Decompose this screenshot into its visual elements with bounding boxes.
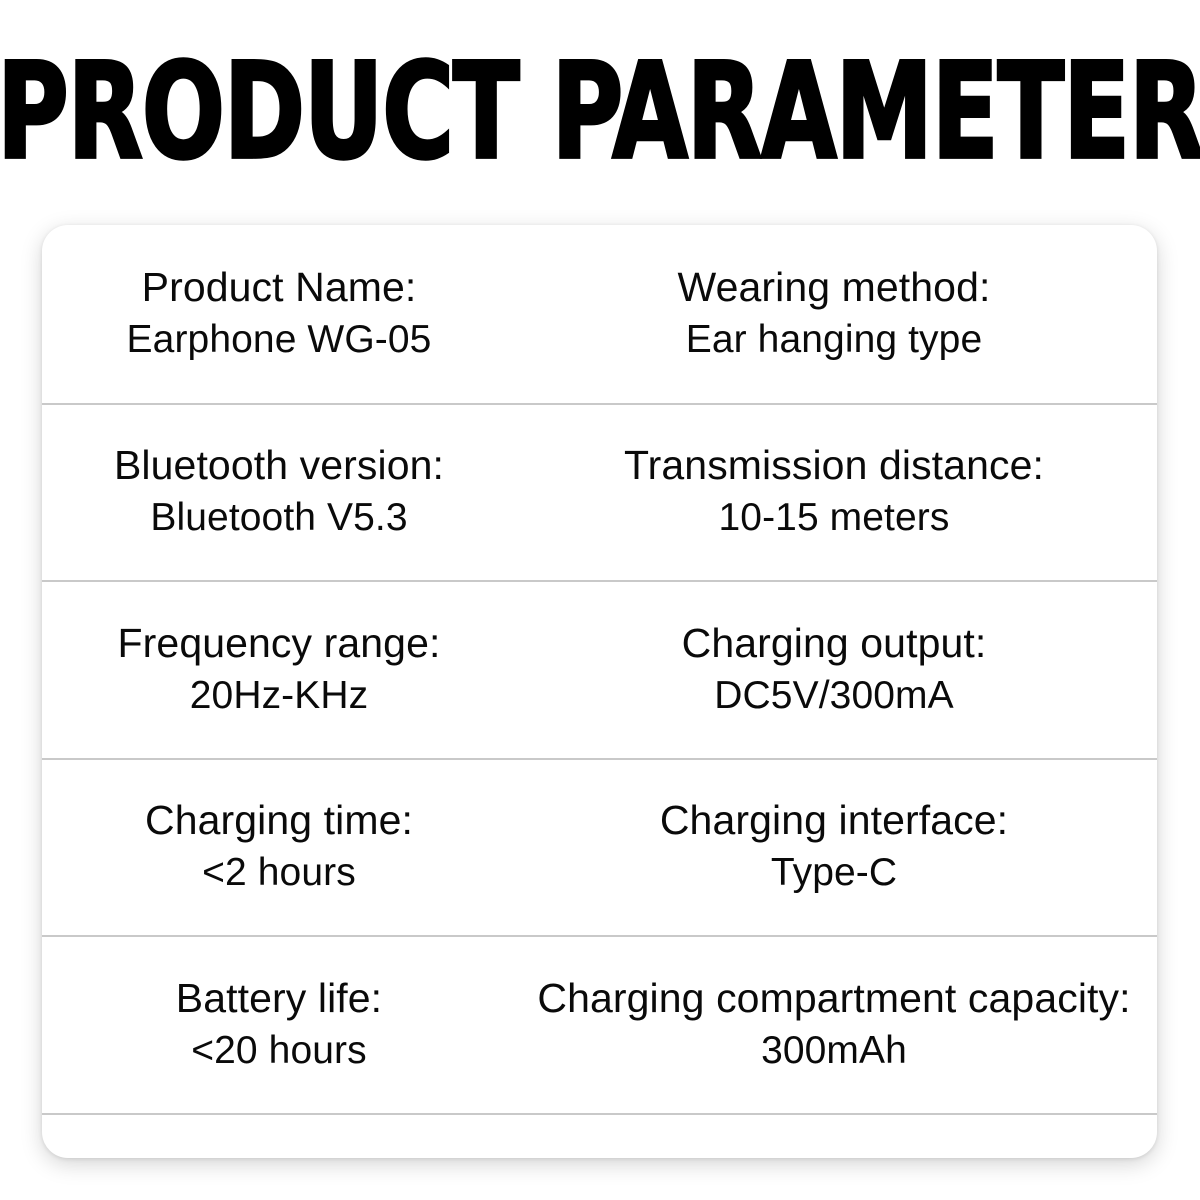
spec-value: Ear hanging type (686, 317, 982, 363)
spec-cell-right: Charging interface: Type-C (514, 798, 1154, 896)
spec-value: 10-15 meters (719, 495, 950, 541)
spec-value: 20Hz-KHz (190, 673, 369, 719)
product-parameter-page: PRODUCT PARAMETER Product Name: Earphone… (0, 0, 1200, 1200)
spec-label: Transmission distance: (624, 443, 1044, 489)
table-row: Battery life: <20 hours Charging compart… (42, 935, 1157, 1113)
spec-label: Frequency range: (118, 621, 441, 667)
spec-label: Charging output: (682, 621, 987, 667)
spec-cell-right: Wearing method: Ear hanging type (514, 265, 1154, 363)
spec-value: <2 hours (202, 850, 356, 896)
spec-cell-left: Bluetooth version: Bluetooth V5.3 (44, 443, 514, 541)
table-row: Charging time: <2 hours Charging interfa… (42, 758, 1157, 936)
page-title: PRODUCT PARAMETER (0, 46, 1200, 178)
spec-cell-left: Frequency range: 20Hz-KHz (44, 621, 514, 719)
spec-value: Earphone WG-05 (127, 317, 432, 363)
spec-label: Product Name: (142, 265, 417, 311)
spec-table-card: Product Name: Earphone WG-05 Wearing met… (42, 225, 1157, 1158)
spec-label: Bluetooth version: (114, 443, 444, 489)
spec-label: Charging time: (145, 798, 413, 844)
spec-table-rows: Product Name: Earphone WG-05 Wearing met… (42, 225, 1157, 1158)
spec-cell-right: Transmission distance: 10-15 meters (514, 443, 1154, 541)
spec-cell-left: Charging time: <2 hours (44, 798, 514, 896)
spec-value: Bluetooth V5.3 (150, 495, 407, 541)
table-row-empty (42, 1113, 1157, 1159)
spec-cell-left: Battery life: <20 hours (44, 976, 514, 1074)
spec-cell-right: Charging compartment capacity: 300mAh (514, 976, 1154, 1074)
spec-value: <20 hours (191, 1028, 366, 1074)
spec-cell-right: Charging output: DC5V/300mA (514, 621, 1154, 719)
spec-label: Charging interface: (660, 798, 1008, 844)
spec-cell-left: Product Name: Earphone WG-05 (44, 265, 514, 363)
spec-label: Wearing method: (678, 265, 991, 311)
spec-value: DC5V/300mA (714, 673, 953, 719)
table-row: Bluetooth version: Bluetooth V5.3 Transm… (42, 403, 1157, 581)
table-row: Frequency range: 20Hz-KHz Charging outpu… (42, 580, 1157, 758)
page-title-container: PRODUCT PARAMETER (0, 52, 1200, 172)
spec-value: Type-C (771, 850, 897, 896)
spec-value: 300mAh (761, 1028, 907, 1074)
spec-label: Charging compartment capacity: (537, 976, 1130, 1022)
table-row: Product Name: Earphone WG-05 Wearing met… (42, 225, 1157, 403)
spec-label: Battery life: (176, 976, 382, 1022)
